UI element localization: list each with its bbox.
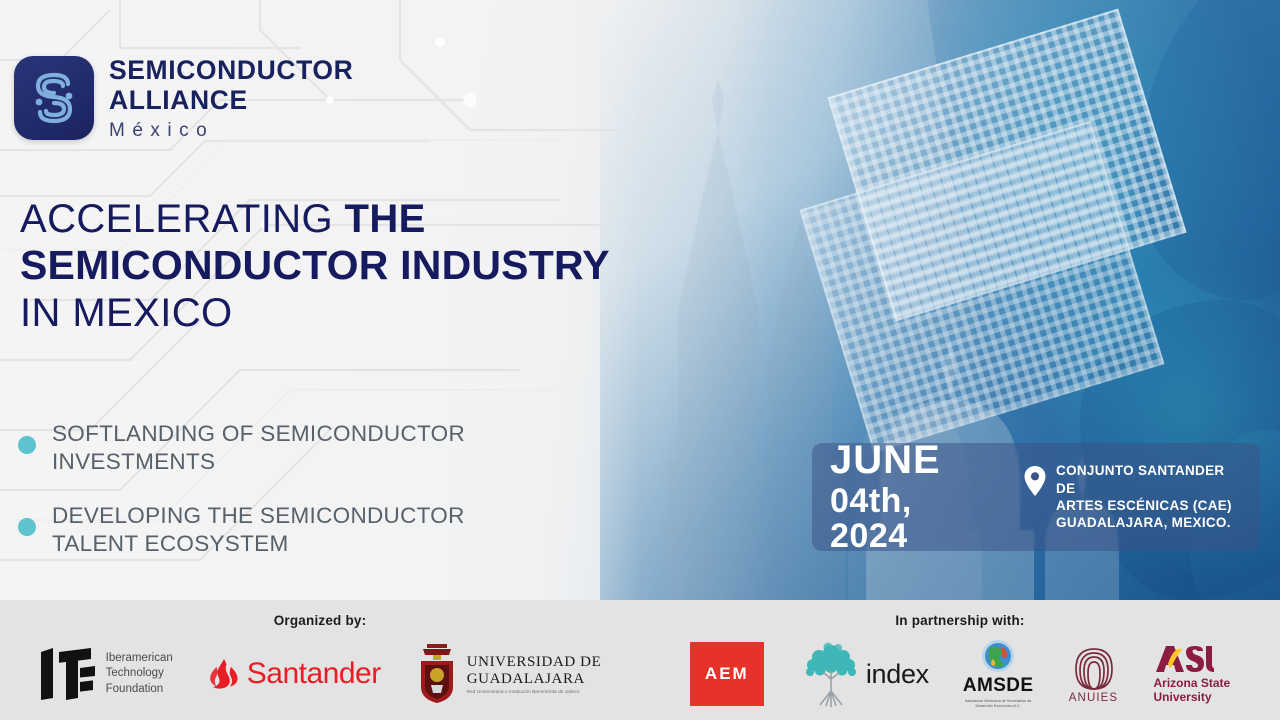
event-venue: CONJUNTO SANTANDER DE ARTES ESCÉNICAS (C… (1023, 462, 1242, 531)
amsde-logo-label: AMSDE (963, 675, 1034, 697)
brand-name-line1: SEMICONDUCTOR (109, 57, 353, 84)
event-month: JUNE (830, 440, 995, 481)
list-item-label: DEVELOPING THE SEMICONDUCTOR TALENT ECOS… (52, 502, 465, 558)
index-logo-label: index (866, 659, 929, 690)
event-poster: SEMICONDUCTOR ALLIANCE México ACCELERATI… (0, 0, 1280, 720)
highlights-list: SOFTLANDING OF SEMICONDUCTOR INVESTMENTS… (18, 420, 465, 584)
headline-line-3: IN MEXICO (20, 290, 610, 336)
list-item: SOFTLANDING OF SEMICONDUCTOR INVESTMENTS (18, 420, 465, 476)
list-item-label: SOFTLANDING OF SEMICONDUCTOR INVESTMENTS (52, 420, 465, 476)
brand-name-line2: ALLIANCE (109, 87, 353, 114)
list-item: DEVELOPING THE SEMICONDUCTOR TALENT ECOS… (18, 502, 465, 558)
organized-by-label: Organized by: (0, 613, 640, 628)
brand-name-line3: México (109, 121, 353, 140)
asu-logo[interactable]: Arizona State University (1154, 644, 1231, 704)
organizer-logo-row: Iberamerican Technology Foundation Santa… (0, 634, 640, 714)
amsde-globe-icon (981, 639, 1015, 673)
asu-monogram-icon (1154, 644, 1216, 674)
event-details-box: JUNE 04th, 2024 CONJUNTO SANTANDER DE AR… (812, 443, 1260, 551)
amsde-logo[interactable]: AMSDE Asociación Mexicana de Secretarios… (963, 639, 1034, 709)
event-day-year: 04th, 2024 (830, 484, 995, 553)
sponsor-footer: Organized by: Iberamerican Technology Fo… (0, 600, 1280, 720)
santander-logo-label: Santander (247, 657, 381, 691)
itf-monogram-icon (39, 646, 97, 702)
asu-logo-label: Arizona State University (1154, 677, 1231, 704)
itf-logo-label: Iberamerican Technology Foundation (106, 651, 173, 698)
anuies-logo[interactable]: ANUIES (1068, 645, 1120, 704)
index-logo[interactable]: index (798, 639, 929, 709)
udg-logo-line2: GUADALAJARA (467, 671, 602, 688)
page-title: ACCELERATING THE SEMICONDUCTOR INDUSTRY … (20, 196, 610, 336)
headline-line-1: ACCELERATING THE (20, 196, 610, 242)
partner-logo-row: AEM (640, 634, 1280, 714)
santander-flame-icon (207, 657, 241, 691)
anuies-rings-icon (1068, 645, 1120, 691)
aem-logo-label: AEM (705, 664, 749, 684)
headline-line1-bold: THE (345, 197, 426, 241)
universidad-de-guadalajara-logo[interactable]: UNIVERSIDAD DE GUADALAJARA Red Universit… (415, 643, 602, 705)
headline-line-2: SEMICONDUCTOR INDUSTRY (20, 242, 610, 290)
event-venue-label: CONJUNTO SANTANDER DE ARTES ESCÉNICAS (C… (1056, 462, 1242, 531)
organizers-section: Organized by: Iberamerican Technology Fo… (0, 600, 640, 720)
location-pin-icon (1023, 465, 1047, 502)
udg-logo-line3: Red Universitaria e Institución Beneméri… (467, 689, 602, 694)
partnership-label: In partnership with: (640, 613, 1280, 628)
amsde-logo-sub: Asociación Mexicana de Secretarios de De… (965, 699, 1031, 709)
index-tree-icon (798, 639, 864, 709)
aem-logo[interactable]: AEM (690, 642, 764, 706)
brand-logo[interactable]: SEMICONDUCTOR ALLIANCE México (14, 56, 353, 140)
udg-crest-icon (415, 643, 459, 705)
semiconductor-s-circuit-icon (14, 56, 94, 140)
bullet-dot-icon (18, 518, 36, 536)
santander-logo[interactable]: Santander (207, 657, 381, 691)
anuies-logo-label: ANUIES (1069, 692, 1118, 704)
udg-logo-line1: UNIVERSIDAD DE (467, 654, 602, 671)
itf-logo[interactable]: Iberamerican Technology Foundation (39, 646, 173, 702)
headline-line1-normal: ACCELERATING (20, 197, 345, 241)
partners-section: In partnership with: AEM (640, 600, 1280, 720)
aem-logo-box: AEM (690, 642, 764, 706)
bullet-dot-icon (18, 436, 36, 454)
event-date: JUNE 04th, 2024 (830, 440, 995, 553)
